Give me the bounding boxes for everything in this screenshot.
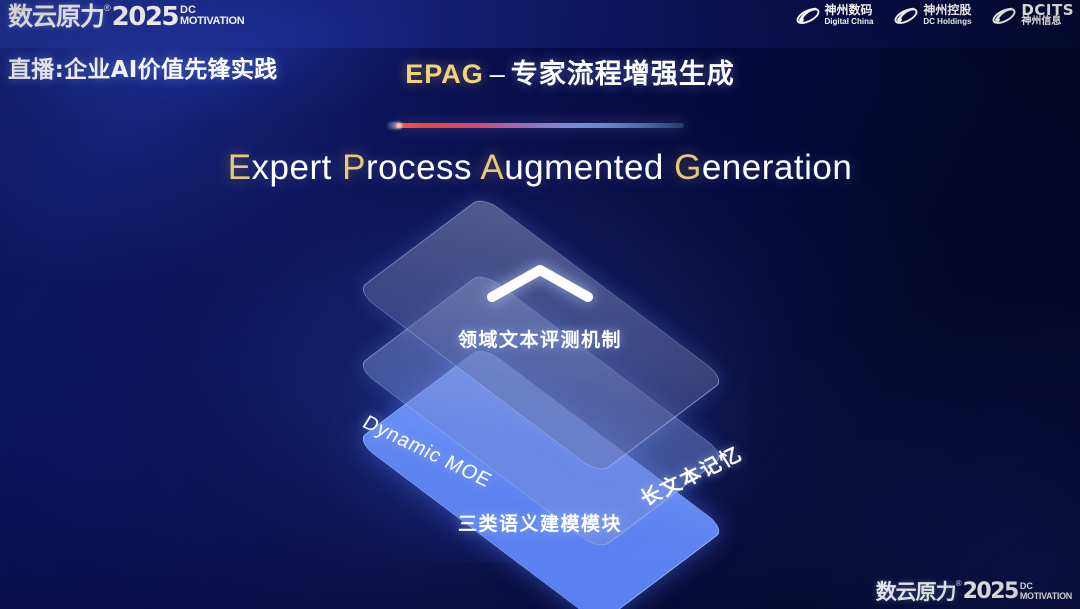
brand-name-cn: 数云原力 (8, 2, 104, 32)
brand-logo: 数云原力 ® 2025 DC MOTIVATION (8, 2, 244, 32)
subtitle-rest-augmented: ugmented (504, 148, 664, 187)
watermark-name-cn: 数云原力 (876, 579, 956, 605)
brand-dc-motivation: DC MOTIVATION (180, 5, 244, 27)
partner-logo-group: 神州数码 Digital China 神州控股 DC Holdings (795, 4, 1074, 27)
slide-title-acronym: EPAG (405, 59, 484, 89)
watermark-motivation-text: MOTIVATION (1020, 591, 1072, 601)
partner-logo-dc-holdings: 神州控股 DC Holdings (893, 4, 971, 27)
watermark-dc-text: DC (1020, 582, 1072, 591)
subtitle-cap-p: P (342, 148, 366, 187)
partner-name-cn: 神州信息 (1021, 17, 1074, 27)
partner-logo-dcits: DCITS 神州信息 (991, 4, 1074, 27)
partner-text: 神州数码 Digital China (825, 4, 874, 27)
subtitle-cap-a: A (480, 148, 504, 187)
brand-motivation-text: MOTIVATION (180, 15, 244, 27)
swirl-logo-icon (991, 5, 1017, 27)
presentation-slide: 数云原力 ® 2025 DC MOTIVATION 直播:企业AI价值先锋实践 … (0, 0, 1080, 609)
subtitle-rest-generation: eneration (702, 148, 852, 187)
subtitle-cap-g: G (674, 148, 702, 187)
chevron-up-icon (485, 262, 595, 304)
gradient-divider (396, 123, 684, 128)
watermark-year: 2025 (963, 579, 1018, 605)
slide-subtitle: Expert Process Augmented Generation (0, 148, 1080, 188)
layered-architecture-diagram: 领域文本评测机制 Dynamic MOE 长文本记忆 三类语义建模模块 (300, 222, 780, 567)
partner-text: 神州控股 DC Holdings (923, 4, 971, 27)
brand-year: 2025 (112, 2, 178, 32)
subtitle-word-process: Process (342, 148, 472, 187)
slide-title-dash: – (490, 59, 505, 89)
watermark-registered-mark: ® (956, 579, 962, 589)
subtitle-word-generation: Generation (674, 148, 852, 187)
slide-title: EPAG–专家流程增强生成 (0, 52, 1080, 91)
partner-name-cn: 神州控股 (923, 4, 971, 17)
subtitle-rest-expert: xpert (252, 148, 332, 187)
brand-dc-text: DC (180, 5, 244, 15)
partner-name-cn: 神州数码 (825, 4, 874, 17)
subtitle-word-expert: Expert (228, 148, 332, 187)
subtitle-cap-e: E (228, 148, 252, 187)
slide-title-chinese: 专家流程增强生成 (511, 59, 735, 90)
partner-logo-digital-china: 神州数码 Digital China (795, 4, 874, 27)
partner-text: DCITS 神州信息 (1021, 4, 1074, 27)
brand-registered-mark: ® (104, 2, 111, 14)
watermark-logo: 数云原力 ® 2025 DC MOTIVATION (876, 579, 1072, 605)
partner-name-en: DC Holdings (923, 17, 971, 27)
watermark-dc-motivation: DC MOTIVATION (1020, 582, 1072, 601)
subtitle-word-augmented: Augmented (480, 148, 664, 187)
swirl-logo-icon (893, 5, 919, 27)
subtitle-rest-process: rocess (366, 148, 472, 187)
partner-name-en: Digital China (825, 17, 874, 27)
swirl-logo-icon (795, 5, 821, 27)
